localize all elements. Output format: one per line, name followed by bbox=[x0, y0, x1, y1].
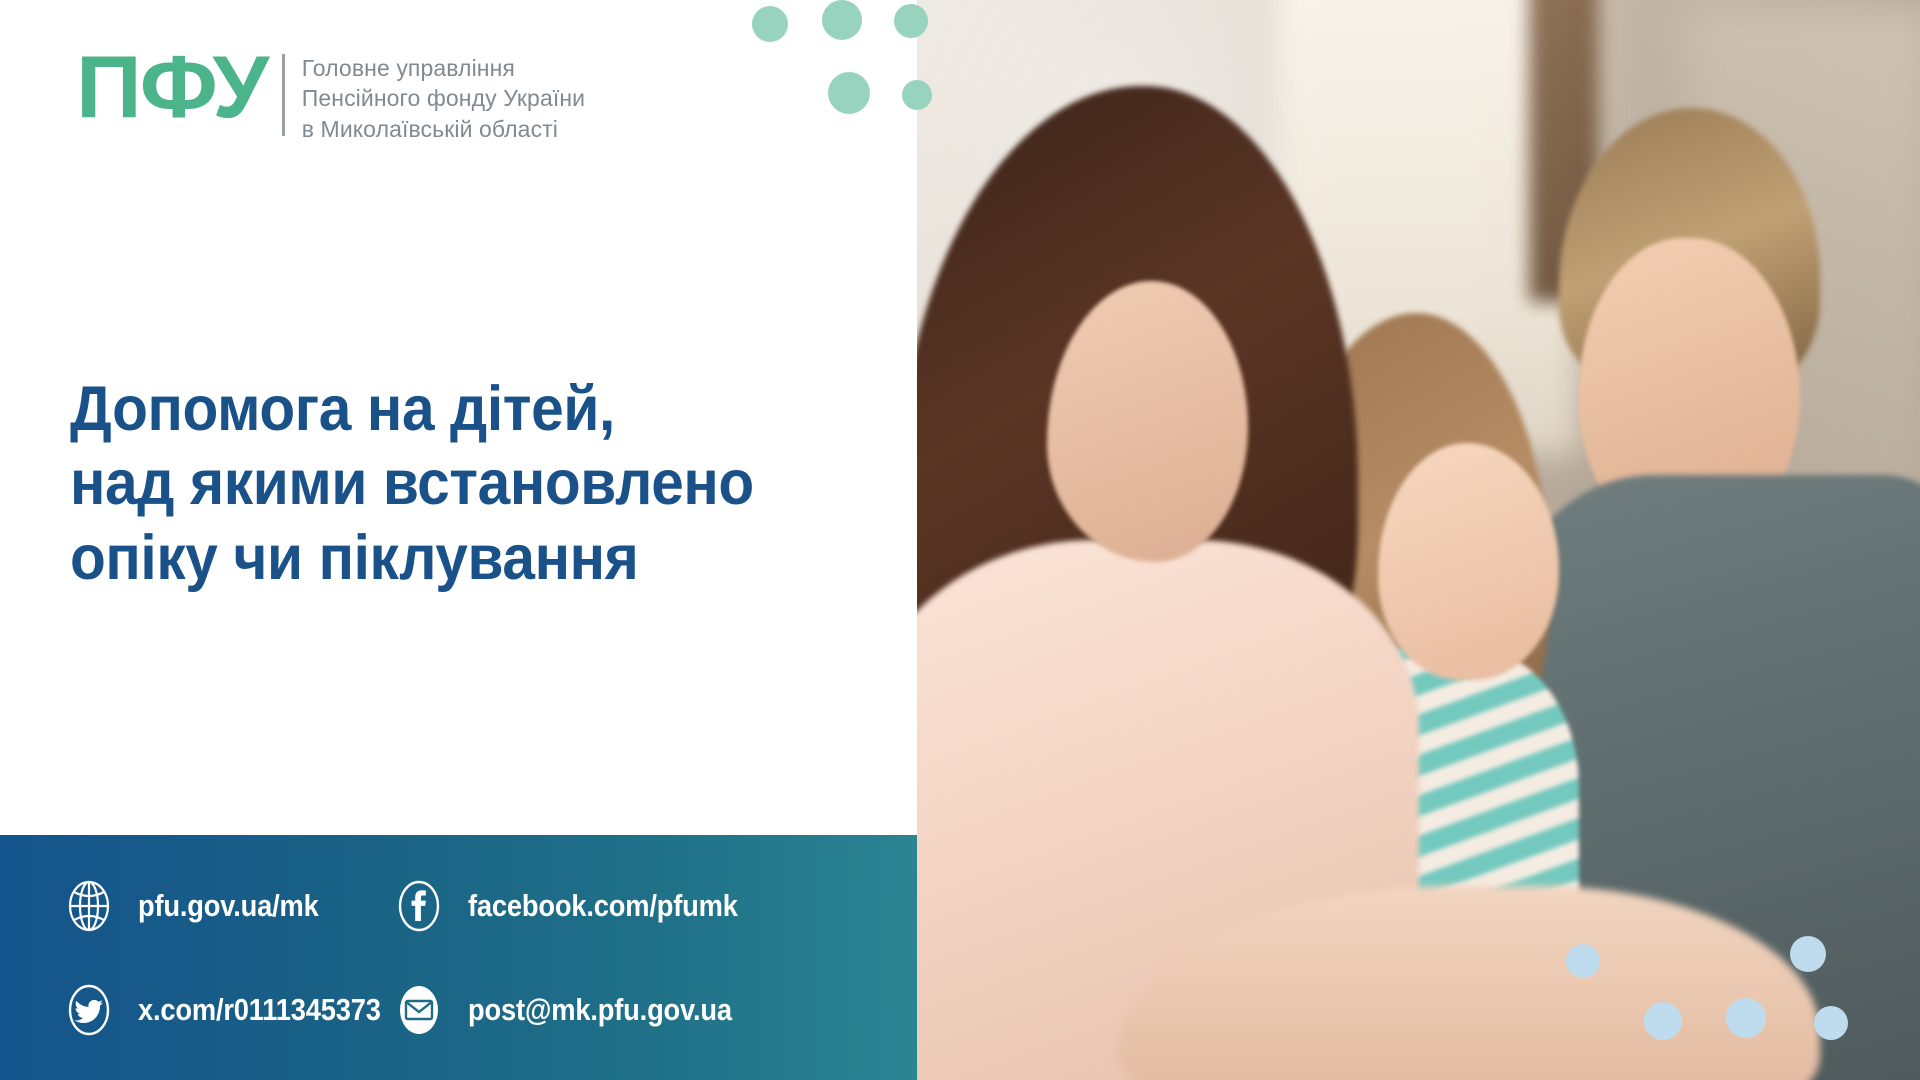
contact-twitter[interactable]: x.com/r0111345373 bbox=[62, 983, 392, 1037]
pfu-logo: ПФУ Головне управління Пенсійного фонду … bbox=[76, 48, 585, 144]
contact-row-2: x.com/r0111345373 post@mk.pfu.gov.ua bbox=[62, 958, 917, 1062]
headline-line-1: Допомога на дітей, bbox=[70, 372, 833, 446]
decorative-dots-bottom bbox=[1566, 936, 1896, 1056]
organization-name: Головне управління Пенсійного фонду Укра… bbox=[302, 48, 585, 144]
facebook-icon bbox=[392, 879, 446, 933]
decorative-dot bbox=[822, 0, 862, 40]
website-text: pfu.gov.ua/mk bbox=[138, 888, 319, 924]
decorative-dots-top bbox=[752, 0, 932, 135]
headline-line-2: над якими встановлено bbox=[70, 446, 833, 520]
family-photo bbox=[917, 0, 1920, 1080]
headline: Допомога на дітей, над якими встановлено… bbox=[70, 372, 890, 595]
decorative-dot bbox=[1814, 1006, 1848, 1040]
email-text: post@mk.pfu.gov.ua bbox=[468, 992, 732, 1028]
contact-footer: pfu.gov.ua/mk facebook.com/pfumk bbox=[0, 835, 917, 1080]
headline-line-3: опіку чи піклування bbox=[70, 521, 833, 595]
twitter-x-icon bbox=[62, 983, 116, 1037]
org-line-1: Головне управління bbox=[302, 53, 585, 83]
facebook-text: facebook.com/pfumk bbox=[468, 888, 738, 924]
decorative-dot bbox=[902, 80, 932, 110]
org-line-2: Пенсійного фонду України bbox=[302, 83, 585, 113]
logo-mark-pfu: ПФУ bbox=[76, 48, 267, 124]
twitter-text: x.com/r0111345373 bbox=[138, 992, 381, 1028]
banner: ПФУ Головне управління Пенсійного фонду … bbox=[0, 0, 1920, 1080]
decorative-dot bbox=[1644, 1002, 1682, 1040]
decorative-dot bbox=[752, 6, 788, 42]
contact-email[interactable]: post@mk.pfu.gov.ua bbox=[392, 983, 768, 1037]
org-line-3: в Миколаївській області bbox=[302, 114, 585, 144]
decorative-dot bbox=[1790, 936, 1826, 972]
decorative-dot bbox=[1726, 998, 1766, 1038]
envelope-icon bbox=[392, 983, 446, 1037]
decorative-dot bbox=[828, 72, 870, 114]
contact-website[interactable]: pfu.gov.ua/mk bbox=[62, 879, 392, 933]
decorative-dot bbox=[894, 4, 928, 38]
decorative-dot bbox=[1566, 944, 1600, 978]
contact-row-1: pfu.gov.ua/mk facebook.com/pfumk bbox=[62, 854, 917, 958]
logo-divider bbox=[282, 54, 285, 136]
globe-icon bbox=[62, 879, 116, 933]
contact-facebook[interactable]: facebook.com/pfumk bbox=[392, 879, 774, 933]
